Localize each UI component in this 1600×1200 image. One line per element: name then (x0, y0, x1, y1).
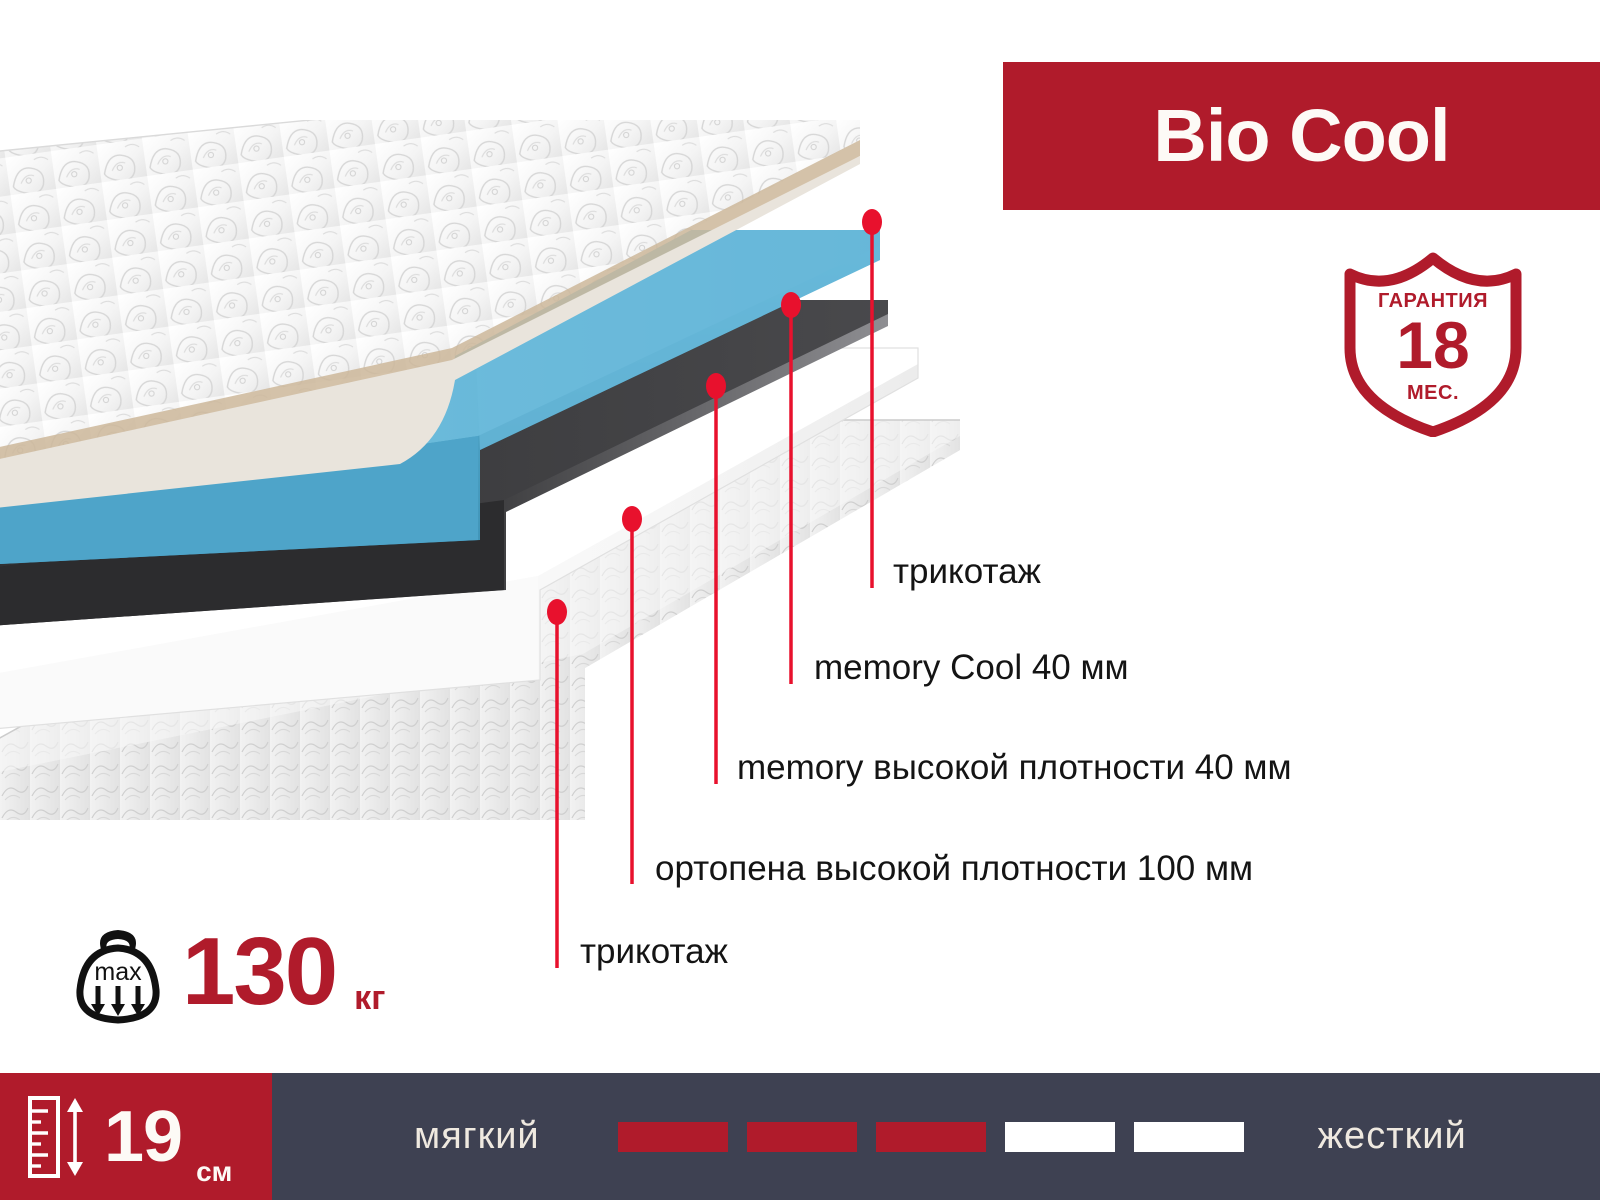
firmness-segment-5 (1134, 1122, 1244, 1152)
firmness-firm-label: жесткий (1318, 1115, 1467, 1158)
max-weight-badge: max 130 кг (72, 918, 385, 1026)
brand-title: Bio Cool (1153, 99, 1449, 173)
callout-label-knit-bottom: трикотаж (580, 934, 728, 969)
firmness-segment-3 (876, 1122, 986, 1152)
kettlebell-icon: max (72, 918, 164, 1026)
height-value: 19 (104, 1101, 182, 1173)
warranty-unit: МЕС. (1338, 382, 1528, 405)
warranty-number: 18 (1338, 312, 1528, 378)
firmness-soft-label: мягкий (414, 1115, 540, 1158)
mattress-layers-illustration (0, 120, 990, 910)
infographic-canvas: Bio Cool ГАРАНТИЯ 18 МЕС. (0, 0, 1600, 1200)
height-block: 19 см (0, 1073, 272, 1200)
firmness-segments (618, 1122, 1244, 1152)
firmness-segment-2 (747, 1122, 857, 1152)
firmness-segment-4 (1005, 1122, 1115, 1152)
firmness-segment-1 (618, 1122, 728, 1152)
ruler-icon (26, 1094, 90, 1180)
footer-bar: 19 см мягкий жесткий (0, 1073, 1600, 1200)
max-weight-unit: кг (354, 979, 385, 1026)
max-weight-value: 130 (182, 924, 336, 1020)
firmness-scale: мягкий жесткий (272, 1073, 1600, 1200)
height-unit: см (196, 1156, 232, 1200)
kettlebell-max-text: max (94, 958, 142, 986)
warranty-badge: ГАРАНТИЯ 18 МЕС. (1338, 252, 1528, 437)
brand-banner: Bio Cool (1003, 62, 1600, 210)
